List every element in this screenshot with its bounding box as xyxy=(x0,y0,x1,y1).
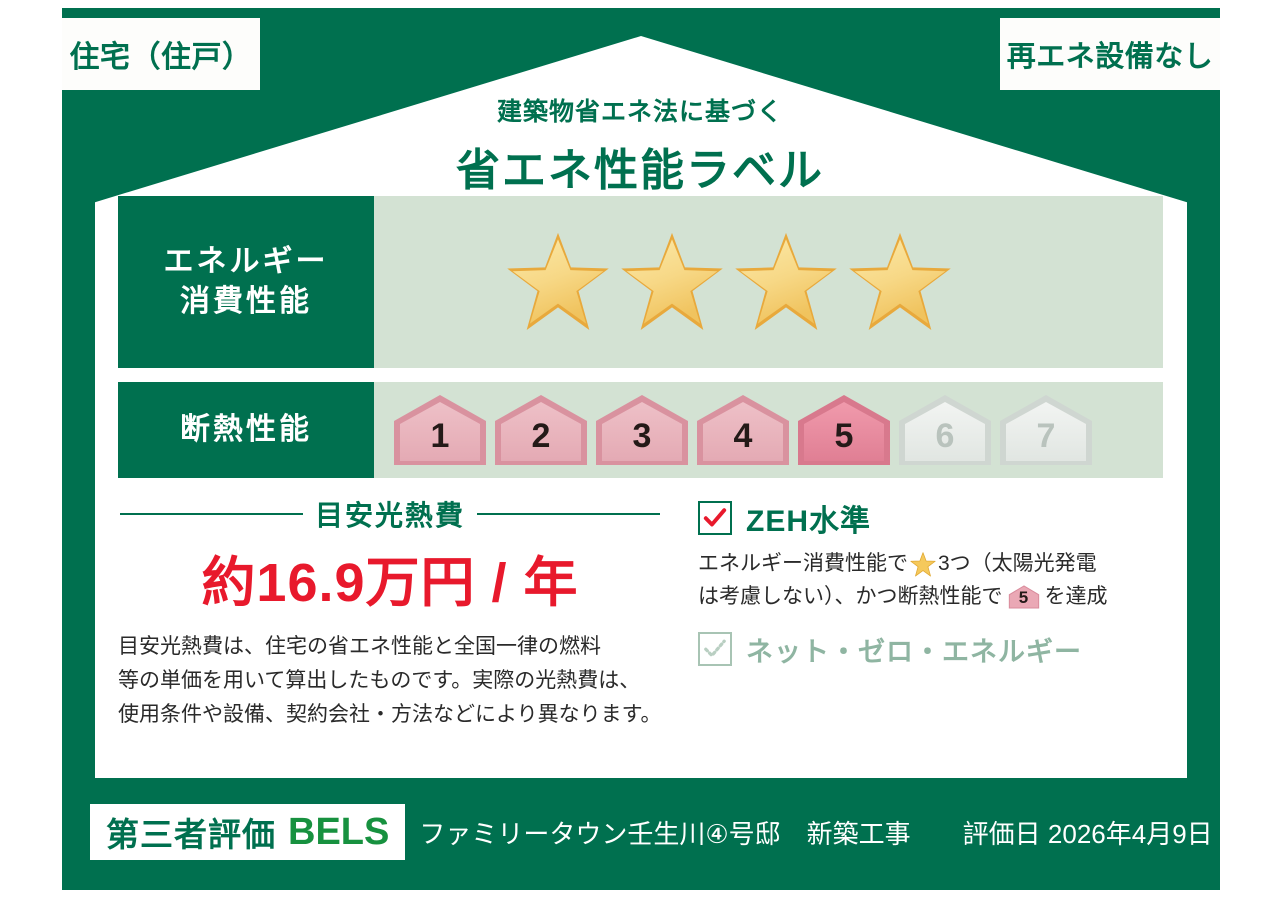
insulation-grade-1: 1 xyxy=(392,393,488,467)
inline-grade-number: 5 xyxy=(1019,589,1028,610)
label-title-block: 建築物省エネ法に基づく 省エネ性能ラベル xyxy=(0,92,1280,198)
utility-cost-title: 目安光熱費 xyxy=(315,494,465,534)
energy-performance-label: エネルギー 消費性能 xyxy=(118,196,374,368)
bels-energy-label: 住宅（住戸） 再エネ設備なし 建築物省エネ法に基づく 省エネ性能ラベル エネルギ… xyxy=(0,0,1280,905)
zeh-heading: ZEH水準 xyxy=(698,496,1168,540)
energy-performance-label-line1: エネルギー xyxy=(164,242,329,283)
star-glyph xyxy=(846,230,954,334)
insulation-grade-scale: 1234567 xyxy=(374,382,1163,478)
energy-performance-stars xyxy=(374,196,1163,368)
net-zero-energy-row: ネット・ゼロ・エネルギー xyxy=(698,630,1168,669)
label-footer: 第三者評価 BELS ファミリータウン壬生川④号邸 新築工事 評価日 2026年… xyxy=(62,798,1220,866)
zeh-title: ZEH水準 xyxy=(746,496,871,540)
badge-building-type: 住宅（住戸） xyxy=(62,18,260,90)
star-icon xyxy=(504,230,612,334)
insulation-grade-4: 4 xyxy=(695,393,791,467)
net-zero-energy-label: ネット・ゼロ・エネルギー xyxy=(746,630,1082,669)
insulation-grade-number: 7 xyxy=(1037,419,1056,467)
star-glyph xyxy=(504,230,612,334)
energy-performance-label-line2: 消費性能 xyxy=(180,282,312,323)
badge-renewable-equipment-label: 再エネ設備なし xyxy=(1007,33,1214,75)
net-zero-energy-checkbox xyxy=(698,632,732,666)
zeh-description: エネルギー消費性能で 3つ（太陽光発電 は考慮しない）、かつ断熱性能で 5 を達… xyxy=(698,548,1168,614)
bels-logo-box: 第三者評価 BELS xyxy=(90,804,405,860)
zeh-desc-line1-prefix: エネルギー消費性能で xyxy=(698,548,908,581)
star-icon xyxy=(846,230,954,334)
star-icon xyxy=(732,230,840,334)
utility-cost-note-line3: 使用条件や設備、契約会社・方法などにより異なります。 xyxy=(118,698,668,732)
heading-rule-right xyxy=(477,513,660,515)
star-glyph xyxy=(618,230,726,334)
insulation-performance-label: 断熱性能 xyxy=(118,382,374,478)
insulation-grade-number: 5 xyxy=(835,419,854,467)
utility-cost-note: 目安光熱費は、住宅の省エネ性能と全国一律の燃料 等の単価を用いて算出したものです… xyxy=(118,630,668,732)
badge-renewable-equipment: 再エネ設備なし xyxy=(1000,18,1220,90)
utility-cost-heading: 目安光熱費 xyxy=(120,494,660,534)
insulation-grade-2: 2 xyxy=(493,393,589,467)
heading-rule-left xyxy=(120,513,303,515)
zeh-block: ZEH水準 エネルギー消費性能で 3つ（太陽光発電 は考慮しない）、かつ断熱性能… xyxy=(698,496,1168,669)
energy-performance-row: エネルギー 消費性能 xyxy=(118,196,1163,368)
inline-star-icon xyxy=(910,552,936,577)
utility-cost-amount: 約16.9万円 / 年 xyxy=(120,538,660,617)
insulation-grade-number: 3 xyxy=(633,419,652,467)
star-icon xyxy=(618,230,726,334)
badge-building-type-label: 住宅（住戸） xyxy=(70,32,253,76)
title-subtitle: 建築物省エネ法に基づく xyxy=(0,92,1280,128)
check-icon xyxy=(702,505,728,531)
star-glyph xyxy=(732,230,840,334)
insulation-performance-label-text: 断熱性能 xyxy=(180,410,312,451)
insulation-grade-7: 7 xyxy=(998,393,1094,467)
bels-wordmark: BELS xyxy=(288,811,389,854)
bels-third-party-text: 第三者評価 xyxy=(106,808,276,856)
building-name: ファミリータウン壬生川④号邸 新築工事 xyxy=(419,814,910,851)
star-glyph xyxy=(910,552,936,577)
insulation-grade-6: 6 xyxy=(897,393,993,467)
insulation-grade-5: 5 xyxy=(796,393,892,467)
zeh-desc-line1-suffix: 3つ（太陽光発電 xyxy=(938,548,1097,581)
zeh-description-line2: は考慮しない）、かつ断熱性能で 5 を達成 xyxy=(698,581,1168,614)
zeh-description-line1: エネルギー消費性能で 3つ（太陽光発電 xyxy=(698,548,1168,581)
utility-cost-note-line2: 等の単価を用いて算出したものです。実際の光熱費は、 xyxy=(118,664,668,698)
zeh-desc-line2-suffix: を達成 xyxy=(1045,581,1108,614)
insulation-grade-number: 6 xyxy=(936,419,955,467)
insulation-grade-number: 2 xyxy=(532,419,551,467)
check-icon-faded xyxy=(702,636,728,662)
title-main: 省エネ性能ラベル xyxy=(0,134,1280,198)
insulation-grade-3: 3 xyxy=(594,393,690,467)
zeh-checkbox xyxy=(698,501,732,535)
utility-cost-note-line1: 目安光熱費は、住宅の省エネ性能と全国一律の燃料 xyxy=(118,630,668,664)
insulation-grade-number: 1 xyxy=(431,419,450,467)
insulation-performance-row: 断熱性能 1234567 xyxy=(118,382,1163,478)
evaluation-date: 評価日 2026年4月9日 xyxy=(963,814,1213,851)
insulation-grade-number: 4 xyxy=(734,419,753,467)
inline-grade-house-icon: 5 xyxy=(1008,584,1040,610)
zeh-desc-line2-prefix: は考慮しない）、かつ断熱性能で xyxy=(698,581,1003,614)
